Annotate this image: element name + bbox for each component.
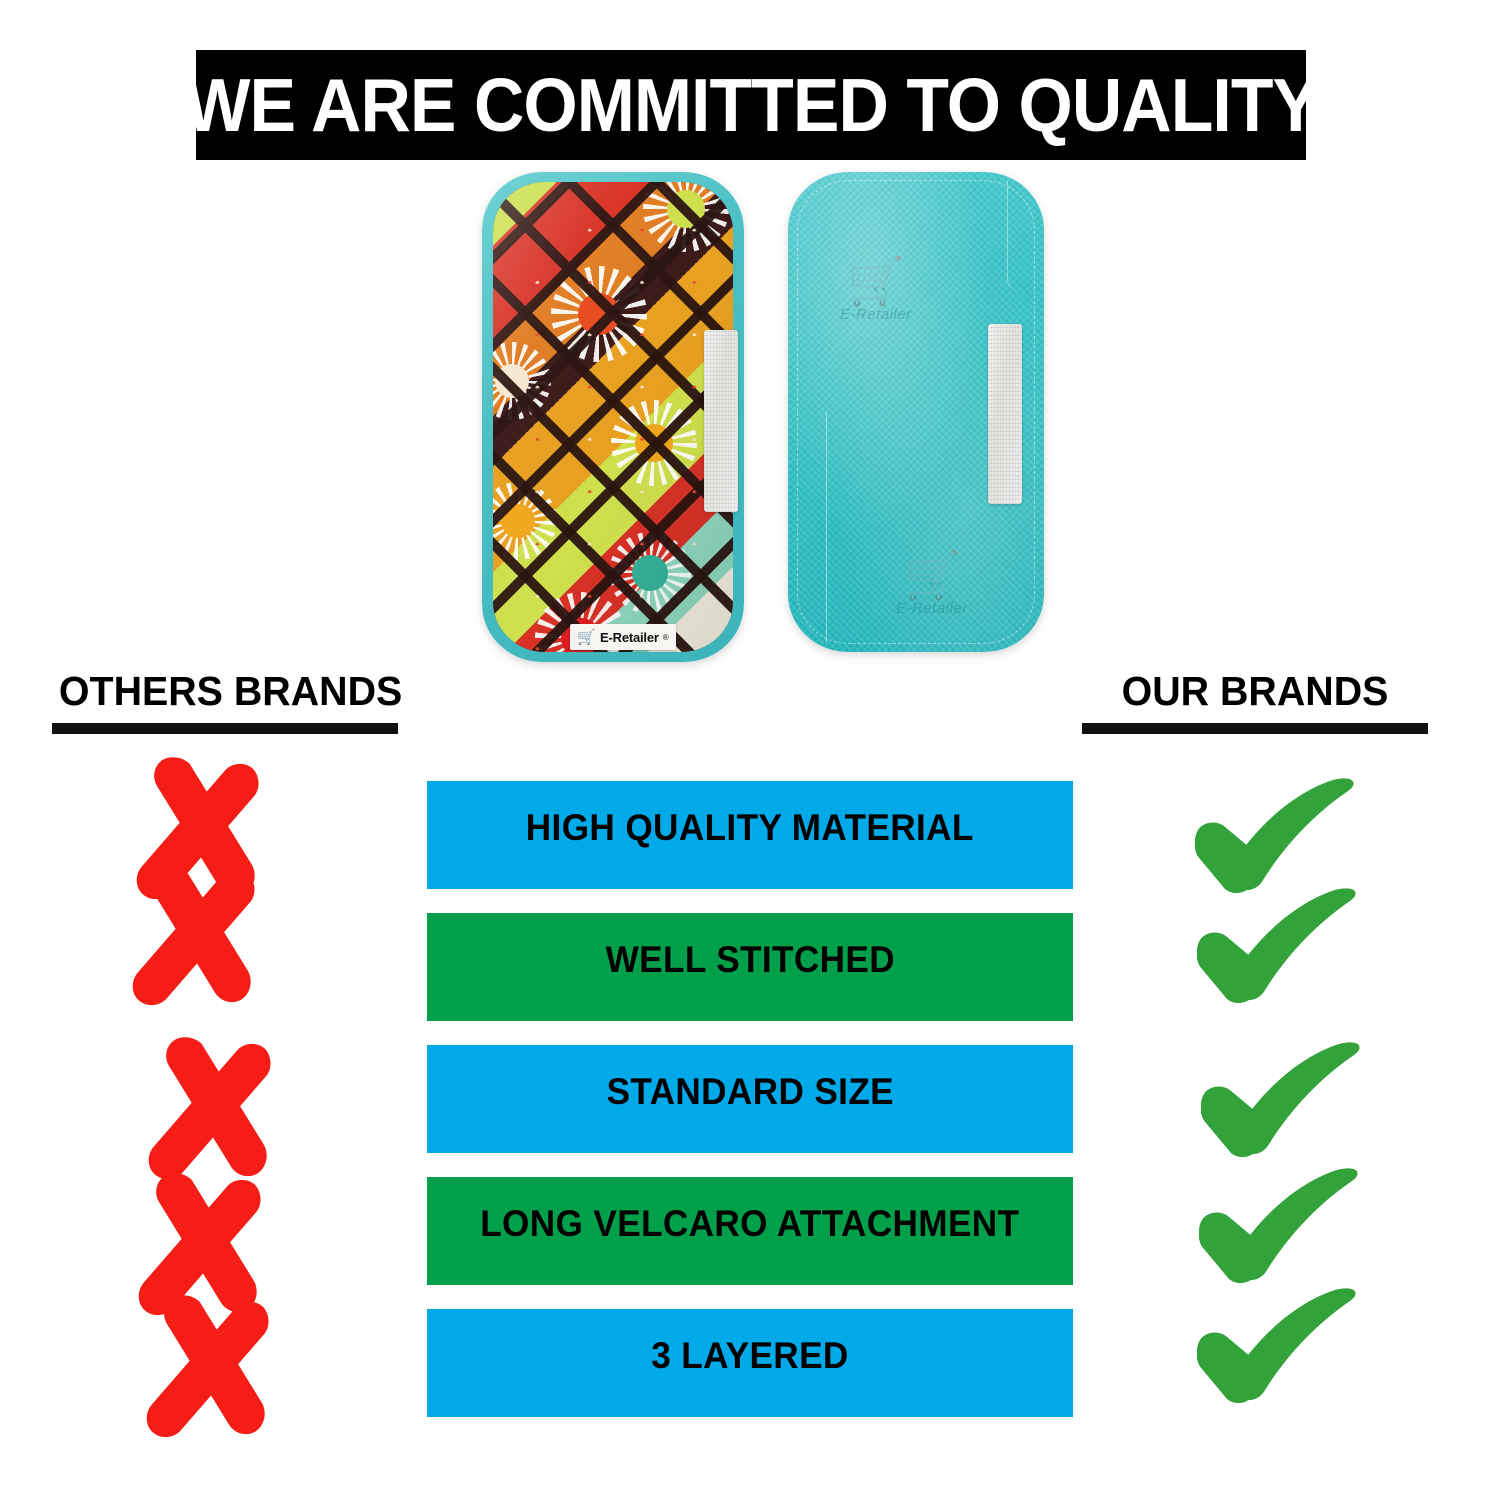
product-image-group: 🛒 E-Retailer ® 🛒 E-Retailer 🛒 E-Re [460,172,1080,677]
registered-mark: ® [663,633,669,642]
others-brands-mark-column [110,0,410,1500]
header-banner: WE ARE COMMITTED TO QUALITY [196,50,1306,160]
heading-underline [1082,723,1428,734]
shopping-cart-icon: 🛒 [840,258,912,304]
cross-icon [132,858,272,1010]
our-brands-label: OUR BRANDS [1089,668,1421,715]
feature-bar-label: WELL STITCHED [605,939,894,981]
pocket-fold [796,412,827,643]
watermark-logo: 🛒 E-Retailer [840,258,912,323]
others-brands-heading: OTHERS BRANDS [52,668,398,734]
our-brands-mark-column [1185,0,1485,1500]
feature-bar-label: LONG VELCARO ATTACHMENT [480,1203,1019,1245]
fabric-sheen [493,182,733,652]
printed-fabric-face [493,182,733,652]
product-front-image: 🛒 E-Retailer ® [482,172,744,662]
shopping-cart-icon: 🛒 [896,552,968,598]
product-back-image: 🛒 E-Retailer 🛒 E-Retailer [788,172,1044,652]
page-title: WE ARE COMMITTED TO QUALITY [184,68,1317,143]
cross-icon [146,1290,286,1442]
feature-bar[interactable]: WELL STITCHED [427,913,1073,1021]
infographic-page: WE ARE COMMITTED TO QUALITY [0,0,1500,1500]
feature-bar-label: HIGH QUALITY MATERIAL [526,807,974,849]
feature-bar-label: 3 LAYERED [651,1335,848,1377]
our-brands-heading: OUR BRANDS [1082,668,1428,734]
feature-bar[interactable]: LONG VELCARO ATTACHMENT [427,1177,1073,1285]
velcro-strip [704,330,738,512]
product-back-shell: 🛒 E-Retailer 🛒 E-Retailer [788,172,1044,652]
brand-label-tag: 🛒 E-Retailer ® [570,624,676,650]
product-front-shell: 🛒 E-Retailer ® [482,172,744,662]
velcro-strip [988,324,1022,504]
feature-bar-label: STANDARD SIZE [606,1071,893,1113]
feature-bar[interactable]: HIGH QUALITY MATERIAL [427,781,1073,889]
feature-bar[interactable]: 3 LAYERED [427,1309,1073,1417]
feature-bar-list: HIGH QUALITY MATERIALWELL STITCHEDSTANDA… [427,781,1073,1417]
feature-bar[interactable]: STANDARD SIZE [427,1045,1073,1153]
watermark-text: E-Retailer [840,306,912,323]
shopping-cart-icon: 🛒 [577,630,596,645]
others-brands-label: OTHERS BRANDS [59,668,391,715]
heading-underline [52,723,398,734]
check-icon [1197,1278,1357,1428]
check-icon [1197,878,1357,1028]
brand-name: E-Retailer [600,630,659,645]
cross-icon [148,1032,288,1184]
flap-fold [1007,181,1034,291]
watermark-text: E-Retailer [896,600,968,617]
watermark-logo: 🛒 E-Retailer [896,552,968,617]
